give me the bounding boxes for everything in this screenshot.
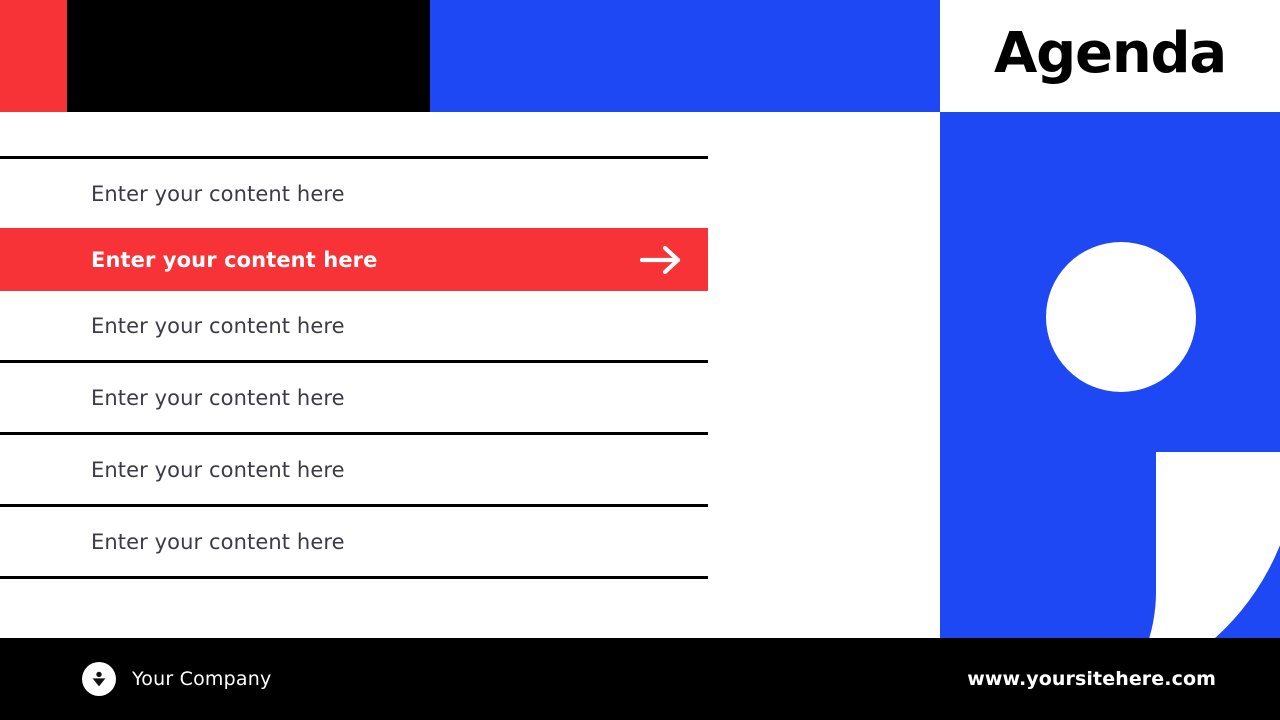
top-decorative-bar — [0, 0, 940, 112]
footer-bar: Your Company www.yoursitehere.com — [0, 638, 1280, 720]
agenda-item-label: Enter your content here — [0, 248, 377, 272]
footer-brand: Your Company — [82, 662, 271, 696]
agenda-item-5[interactable]: Enter your content here — [0, 435, 708, 504]
agenda-item-3[interactable]: Enter your content here — [0, 291, 708, 360]
agenda-item-label: Enter your content here — [0, 458, 345, 482]
list-divider — [0, 576, 708, 579]
agenda-item-label: Enter your content here — [0, 314, 345, 338]
agenda-item-label: Enter your content here — [0, 182, 345, 206]
agenda-item-6[interactable]: Enter your content here — [0, 507, 708, 576]
agenda-item-2-active[interactable]: Enter your content here — [0, 228, 708, 291]
page-title: Agenda — [994, 26, 1226, 86]
topbar-blue-block — [430, 0, 940, 112]
agenda-item-4[interactable]: Enter your content here — [0, 363, 708, 432]
agenda-item-label: Enter your content here — [0, 386, 345, 410]
agenda-list: Enter your content here Enter your conte… — [0, 156, 710, 579]
company-logo-icon — [82, 662, 116, 696]
arrow-right-icon — [638, 243, 684, 277]
agenda-item-1[interactable]: Enter your content here — [0, 159, 708, 228]
right-decorative-panel — [940, 112, 1280, 638]
company-name: Your Company — [132, 668, 271, 690]
website-url[interactable]: www.yoursitehere.com — [967, 668, 1216, 690]
topbar-black-block — [67, 0, 430, 112]
title-zone: Agenda — [940, 0, 1280, 112]
agenda-slide: Agenda Enter your content here Enter you… — [0, 0, 1280, 720]
arc-inner-cutout — [996, 452, 1156, 638]
white-circle-shape — [1046, 242, 1196, 392]
agenda-item-label: Enter your content here — [0, 530, 345, 554]
topbar-red-block — [0, 0, 67, 112]
